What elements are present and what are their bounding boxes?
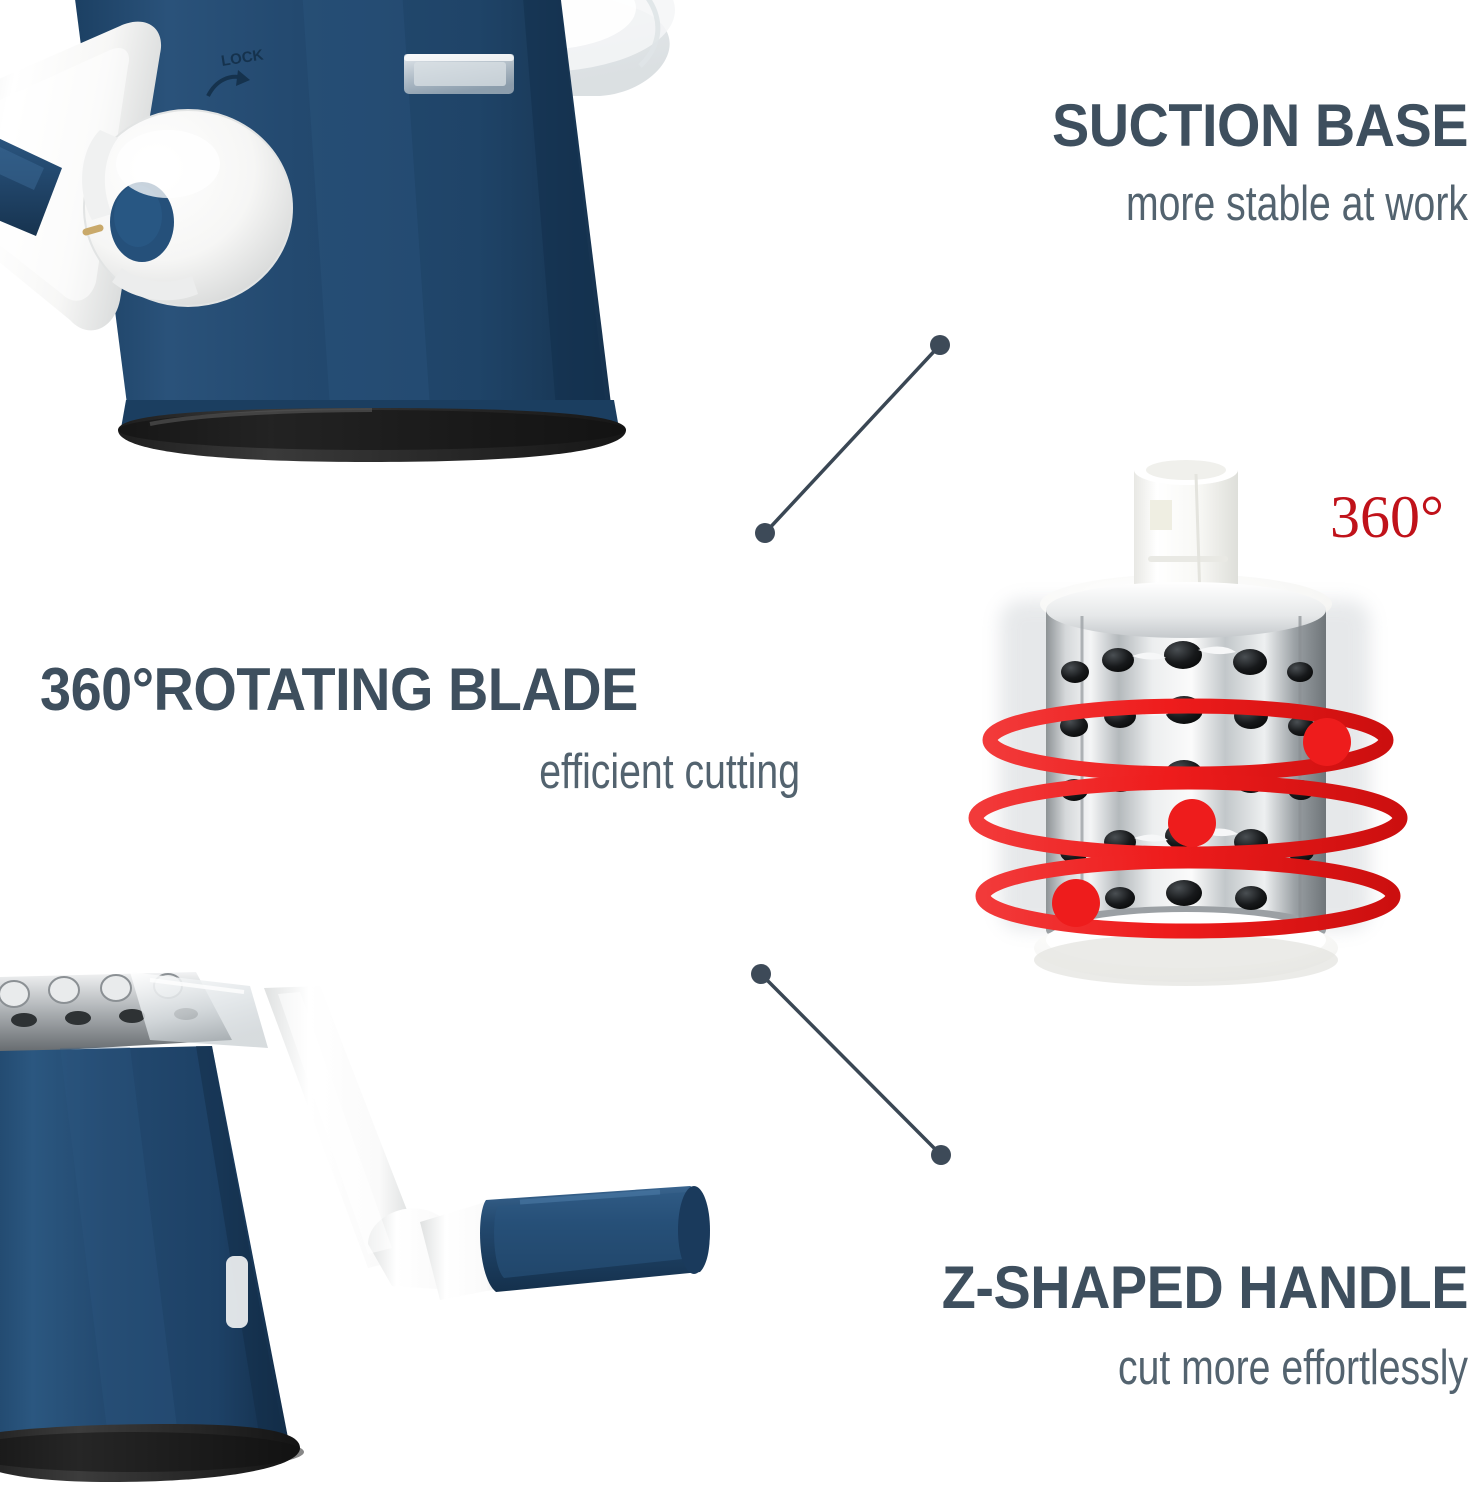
feature-title: Z-SHAPED HANDLE xyxy=(847,1258,1468,1318)
blue-body-2 xyxy=(0,1046,290,1458)
rotation-ring-3 xyxy=(983,861,1393,931)
clear-latch-icon xyxy=(404,54,514,94)
suction-base-icon xyxy=(118,408,626,462)
feature-subtitle: cut more effortlessly xyxy=(934,1344,1468,1393)
feature-z-shaped-handle: Z-SHAPED HANDLE cut more effortlessly xyxy=(800,1258,1468,1393)
rotation-dot-2 xyxy=(1168,799,1216,847)
rotation-ring-dots xyxy=(1052,718,1351,927)
white-arm xyxy=(0,22,161,331)
rotation-dot-1 xyxy=(1303,718,1351,766)
rotation-ring-2 xyxy=(976,782,1400,854)
callout-dot xyxy=(931,1145,951,1165)
z-crank-arm xyxy=(264,986,512,1300)
suction-base-callout xyxy=(140,335,1468,543)
callout-dot xyxy=(751,964,771,984)
drum-hub-icon xyxy=(1134,455,1238,600)
grater-holes xyxy=(1060,641,1314,910)
crank-grip-icon xyxy=(480,1186,710,1292)
z-handle-callout xyxy=(620,964,1468,1165)
drum-top-disc xyxy=(1040,574,1332,634)
rotation-degrees-badge: 360° xyxy=(1330,487,1444,547)
feature-title: 360°ROTATING BLADE xyxy=(40,660,747,720)
infographic-canvas: LOCK xyxy=(0,0,1468,1500)
lock-knob-icon xyxy=(82,110,292,306)
feature-subtitle: efficient cutting xyxy=(192,748,800,797)
grater-cartridge-icon xyxy=(0,972,268,1056)
chrome-drum xyxy=(1046,582,1326,954)
feature-subtitle: more stable at work xyxy=(1068,180,1468,229)
clear-hopper-icon xyxy=(386,0,675,96)
lock-label: LOCK xyxy=(208,46,265,96)
motion-blur-halo xyxy=(1000,600,1370,930)
feature-rotating-blade: 360°ROTATING BLADE efficient cutting xyxy=(40,660,800,797)
rotation-ring-1 xyxy=(990,706,1386,774)
drum-base-plate xyxy=(1034,912,1338,986)
rotation-dot-3 xyxy=(1052,879,1100,927)
callout-dot xyxy=(755,523,775,543)
blue-body xyxy=(70,0,620,434)
feature-suction-base: SUCTION BASE more stable at work xyxy=(968,96,1468,229)
callout-dot xyxy=(930,335,950,355)
lock-text: LOCK xyxy=(220,46,265,69)
feature-title: SUCTION BASE xyxy=(1003,96,1468,156)
suction-base-icon-2 xyxy=(0,1424,304,1482)
blue-tube xyxy=(0,120,62,236)
rotation-rings xyxy=(976,706,1400,931)
